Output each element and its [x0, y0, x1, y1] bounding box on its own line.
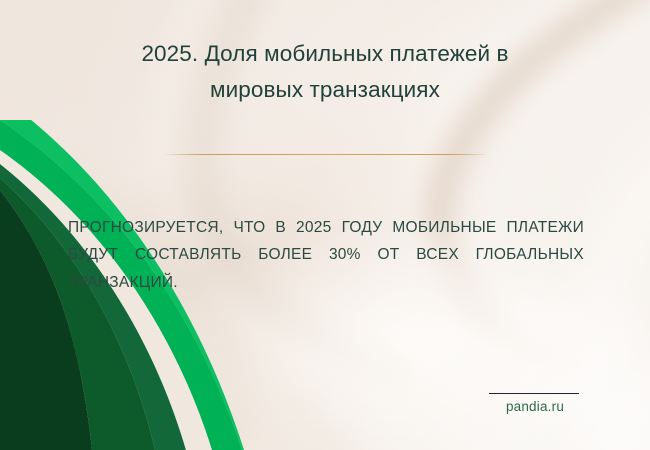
footer-divider-rule — [489, 393, 579, 394]
page-title: 2025. Доля мобильных платежей в мировых … — [95, 36, 555, 108]
title-line-1: 2025. Доля мобильных платежей в — [95, 36, 555, 72]
body-paragraph: ПРОГНОЗИРУЕТСЯ, ЧТО В 2025 ГОДУ МОБИЛЬНЫ… — [68, 214, 584, 297]
title-divider-rule — [166, 154, 486, 155]
title-line-2: мировых транзакциях — [95, 72, 555, 108]
source-label: pandia.ru — [489, 399, 581, 415]
slide-content: 2025. Доля мобильных платежей в мировых … — [0, 0, 650, 450]
slide-canvas: 2025. Доля мобильных платежей в мировых … — [0, 0, 650, 450]
footer-attribution: pandia.ru — [489, 393, 581, 415]
